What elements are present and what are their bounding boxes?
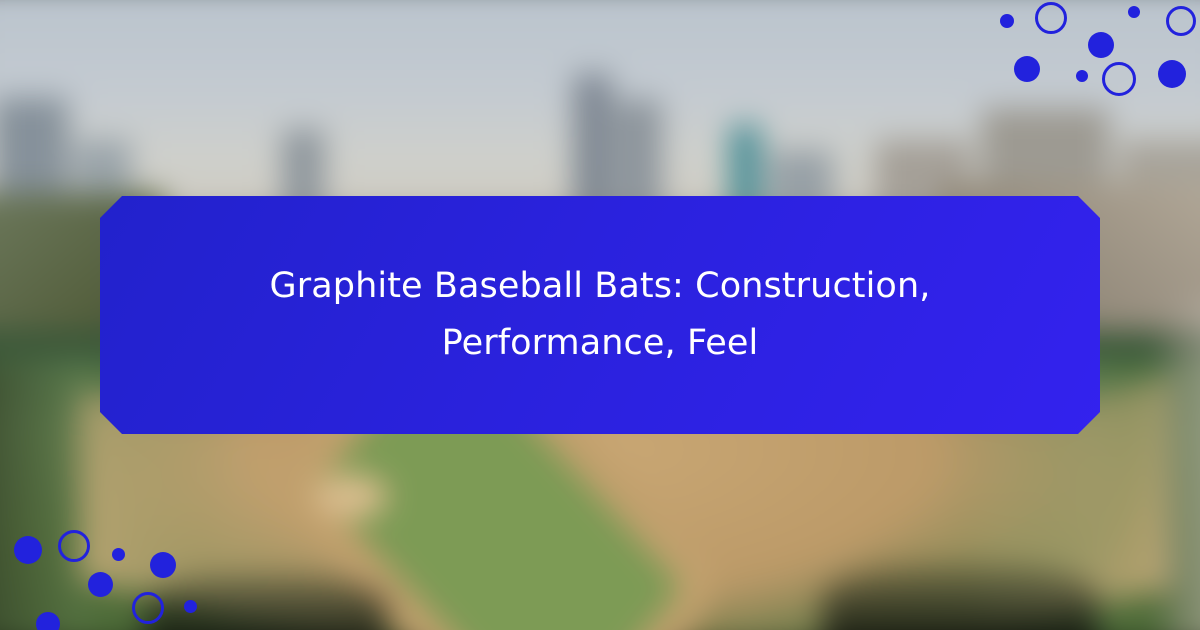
foreground-shadow-left [0,363,81,630]
decorative-dot-ring [132,592,164,624]
decorative-dot-filled [112,548,125,561]
decorative-dot-filled [1158,60,1186,88]
decorative-dot-ring [1035,2,1067,34]
foreground-post-right [1162,299,1200,630]
foreground-shadow-lower-right [823,564,1099,630]
decorative-dot-filled [184,600,197,613]
decorative-dot-filled [1000,14,1014,28]
decorative-dot-filled [1128,6,1140,18]
decorative-dot-filled [1076,70,1088,82]
decorative-dot-filled [14,536,42,564]
title-card-stage: Graphite Baseball Bats: Construction, Pe… [0,0,1200,630]
decorative-dot-filled [88,572,113,597]
decorative-dot-filled [1088,32,1114,58]
pitchers-mound [314,474,388,519]
title-plaque: Graphite Baseball Bats: Construction, Pe… [100,196,1100,434]
decorative-dot-filled [150,552,176,578]
decorative-dot-filled [36,612,60,630]
decorative-dot-ring [1166,6,1196,36]
page-title: Graphite Baseball Bats: Construction, Pe… [170,258,1030,371]
foreground-shadow-lower-left [144,575,388,630]
decorative-dot-ring [58,530,90,562]
decorative-dot-ring [1102,62,1136,96]
decorative-dot-filled [1014,56,1040,82]
